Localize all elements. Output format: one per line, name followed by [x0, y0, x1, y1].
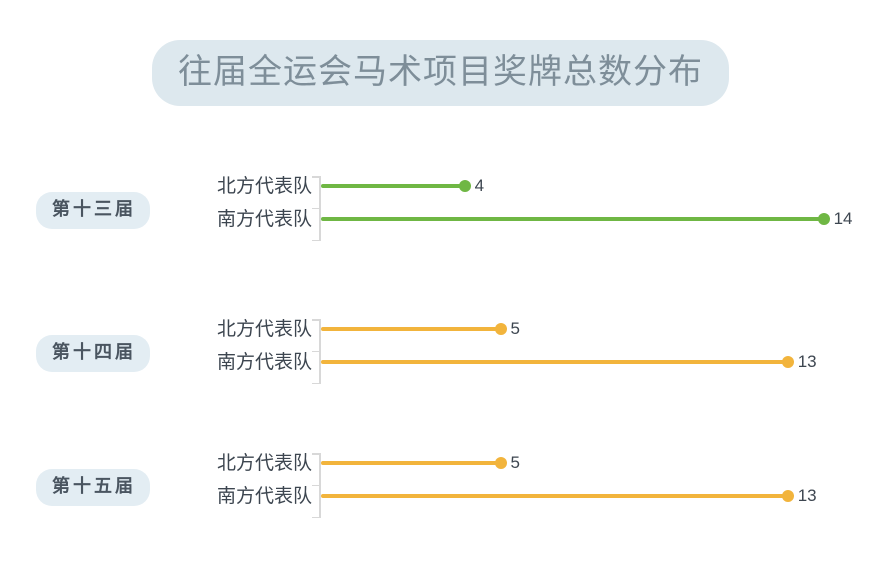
lollipop-stem	[321, 184, 465, 188]
lollipop-stem	[321, 217, 824, 221]
chart-group: 第十三届北方代表队4南方代表队14	[0, 166, 881, 276]
lollipop-row: 南方代表队14	[0, 204, 881, 238]
lollipop-stem	[321, 461, 501, 465]
value-label: 13	[798, 349, 817, 375]
category-label: 北方代表队	[217, 316, 312, 342]
lollipop-dot[interactable]	[495, 323, 507, 335]
page-title: 往届全运会马术项目奖牌总数分布	[152, 40, 729, 106]
axis-tick	[312, 240, 319, 242]
value-label: 4	[475, 173, 484, 199]
lollipop-row: 北方代表队5	[0, 314, 881, 348]
lollipop-row: 南方代表队13	[0, 347, 881, 381]
category-label: 南方代表队	[217, 483, 312, 509]
lollipop-row: 北方代表队4	[0, 171, 881, 205]
value-label: 13	[798, 483, 817, 509]
axis-tick	[312, 517, 319, 519]
lollipop-dot[interactable]	[818, 213, 830, 225]
chart-group: 第十四届北方代表队5南方代表队13	[0, 309, 881, 419]
lollipop-stem	[321, 360, 788, 364]
lollipop-stem	[321, 494, 788, 498]
lollipop-dot[interactable]	[782, 356, 794, 368]
lollipop-stem	[321, 327, 501, 331]
axis-tick	[312, 383, 319, 385]
value-label: 5	[511, 316, 520, 342]
value-label: 14	[834, 206, 853, 232]
chart-title-banner: 往届全运会马术项目奖牌总数分布	[0, 40, 881, 106]
chart-group: 第十五届北方代表队5南方代表队13	[0, 443, 881, 553]
category-label: 南方代表队	[217, 349, 312, 375]
category-label: 北方代表队	[217, 173, 312, 199]
lollipop-dot[interactable]	[782, 490, 794, 502]
lollipop-row: 南方代表队13	[0, 481, 881, 515]
lollipop-dot[interactable]	[495, 457, 507, 469]
category-label: 北方代表队	[217, 450, 312, 476]
lollipop-row: 北方代表队5	[0, 448, 881, 482]
lollipop-dot[interactable]	[459, 180, 471, 192]
chart-plot-area: 第十三届北方代表队4南方代表队14第十四届北方代表队5南方代表队13第十五届北方…	[0, 106, 881, 581]
category-label: 南方代表队	[217, 206, 312, 232]
value-label: 5	[511, 450, 520, 476]
